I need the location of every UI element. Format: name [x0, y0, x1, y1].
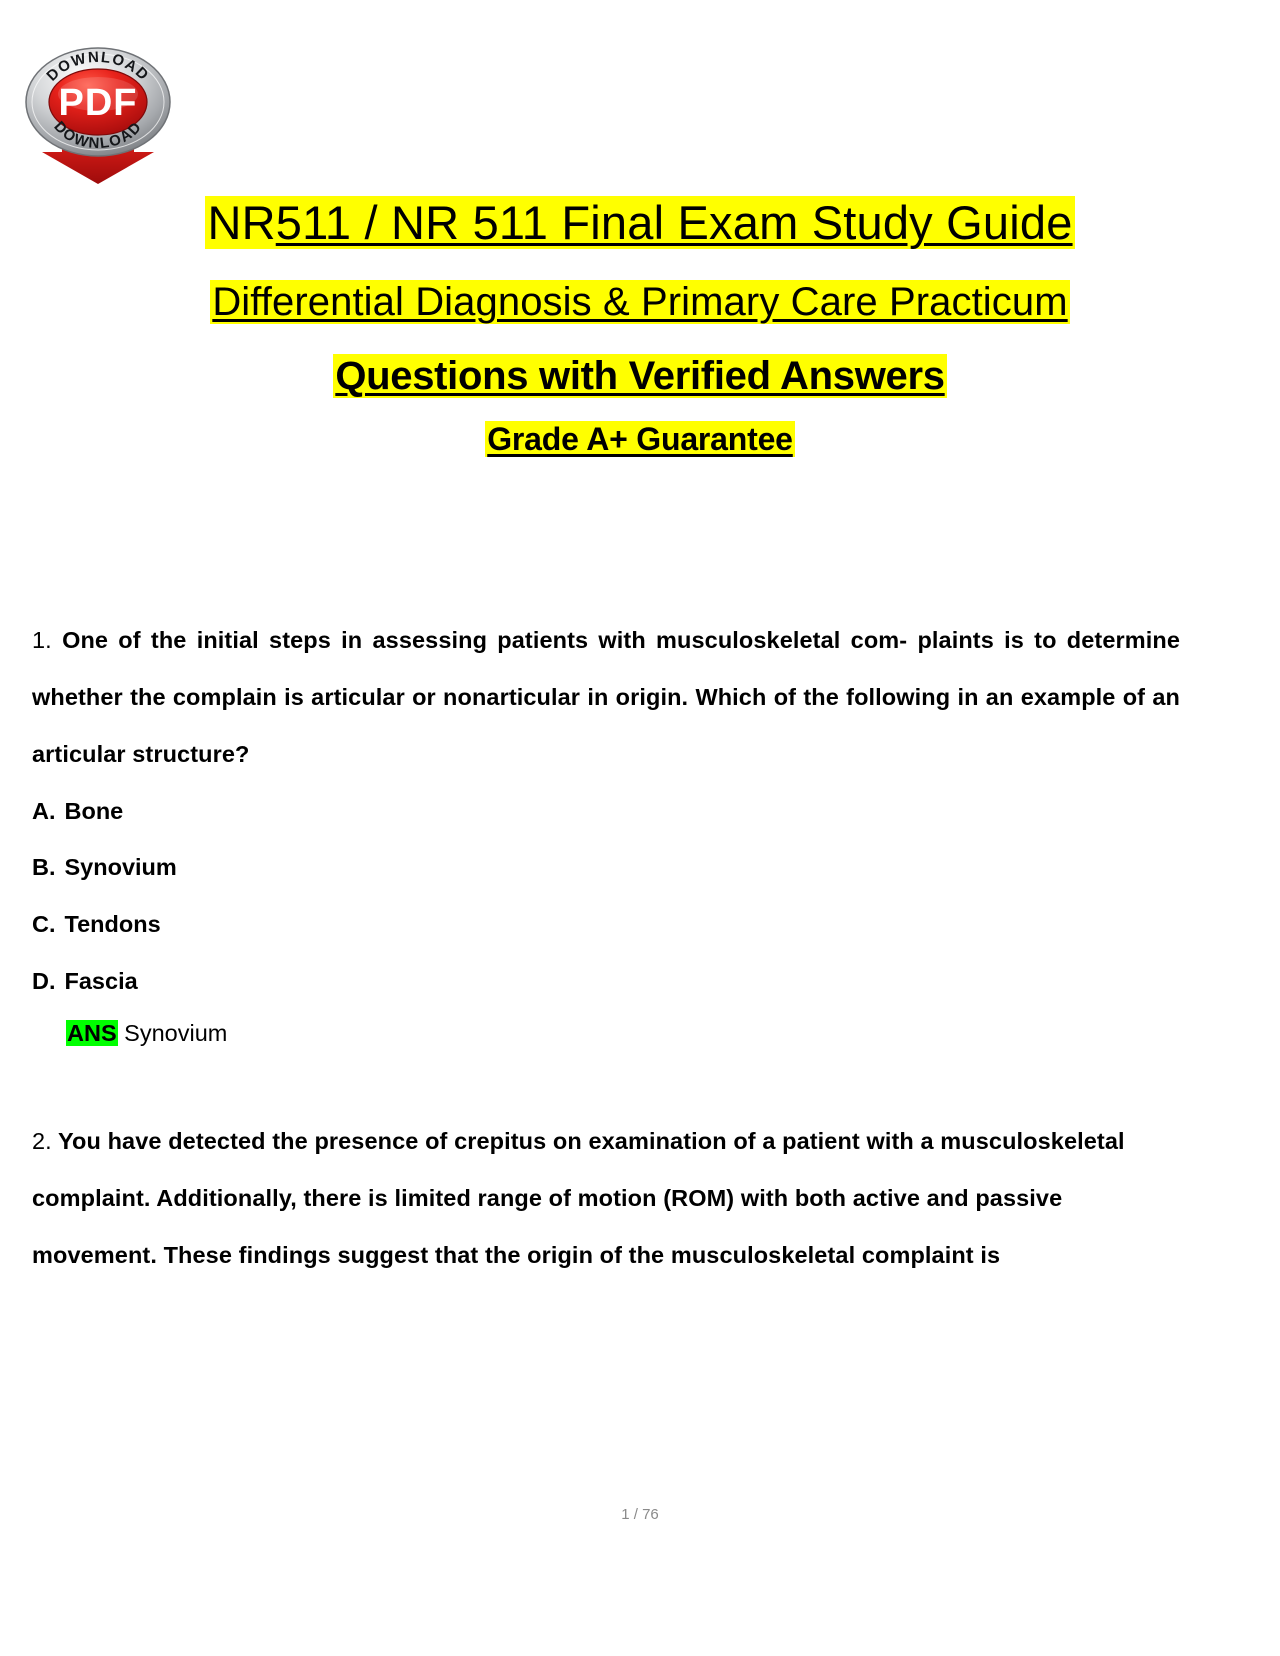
option-c[interactable]: C. Tendons — [32, 896, 1180, 953]
document-title-block: NR511 / NR 511 Final Exam Study Guide Di… — [0, 196, 1280, 458]
question-1-text: 1. One of the initial steps in assessing… — [32, 612, 1180, 783]
question-1-body: One of the initial steps in assessing pa… — [32, 627, 1180, 767]
questions-container: 1. One of the initial steps in assessing… — [32, 612, 1180, 1284]
option-b-label: Synovium — [65, 839, 177, 896]
answer-text: Synovium — [118, 1020, 228, 1046]
question-2-number: 2. — [32, 1128, 52, 1154]
page-indicator: 1 / 76 — [621, 1506, 659, 1523]
answer-tag-badge: ANS — [66, 1020, 118, 1046]
option-b-letter: B. — [32, 839, 56, 896]
title-line-2: Differential Diagnosis & Primary Care Pr… — [0, 279, 1280, 325]
title-line-3: Questions with Verified Answers — [0, 353, 1280, 399]
option-d[interactable]: D. Fascia — [32, 953, 1180, 1010]
question-1-options: A. Bone B. Synovium C. Tendons D. Fascia — [32, 783, 1180, 1010]
option-d-label: Fascia — [65, 953, 138, 1010]
question-block-1: 1. One of the initial steps in assessing… — [32, 612, 1180, 1055]
title-line-1-highlight: NR511 / NR 511 Final Exam Study Guide — [205, 196, 1074, 249]
title-line-4-text: Grade A+ Guarantee — [485, 421, 795, 457]
title-line-1: NR511 / NR 511 Final Exam Study Guide — [0, 196, 1280, 251]
option-a-letter: A. — [32, 783, 56, 840]
option-a[interactable]: A. Bone — [32, 783, 1180, 840]
document-page: DOWNLOAD DOWNLOAD PDF NR511 / NR 511 Fin… — [0, 0, 1280, 1656]
question-2-text: 2. You have detected the presence of cre… — [32, 1113, 1180, 1284]
page-footer: 1 / 76 — [0, 1506, 1280, 1523]
title-line-3-text: Questions with Verified Answers — [333, 354, 946, 398]
title-line-1-underlined: 511 / NR 511 Final Exam Study Guide — [276, 196, 1073, 249]
question-1-answer: ANS Synovium — [32, 1012, 1180, 1055]
option-a-label: Bone — [65, 783, 124, 840]
question-spacer — [32, 1055, 1180, 1113]
option-c-label: Tendons — [65, 896, 161, 953]
option-b[interactable]: B. Synovium — [32, 839, 1180, 896]
option-d-letter: D. — [32, 953, 56, 1010]
pdf-download-badge: DOWNLOAD DOWNLOAD PDF — [22, 26, 174, 186]
title-line-2-text: Differential Diagnosis & Primary Care Pr… — [210, 280, 1069, 324]
svg-text:PDF: PDF — [59, 82, 138, 124]
question-1-number: 1. — [32, 627, 52, 653]
question-block-2: 2. You have detected the presence of cre… — [32, 1113, 1180, 1284]
option-c-letter: C. — [32, 896, 56, 953]
question-2-body: You have detected the presence of crepit… — [32, 1128, 1125, 1268]
title-line-4: Grade A+ Guarantee — [0, 421, 1280, 458]
title-line-1-prefix: NR — [207, 196, 275, 249]
